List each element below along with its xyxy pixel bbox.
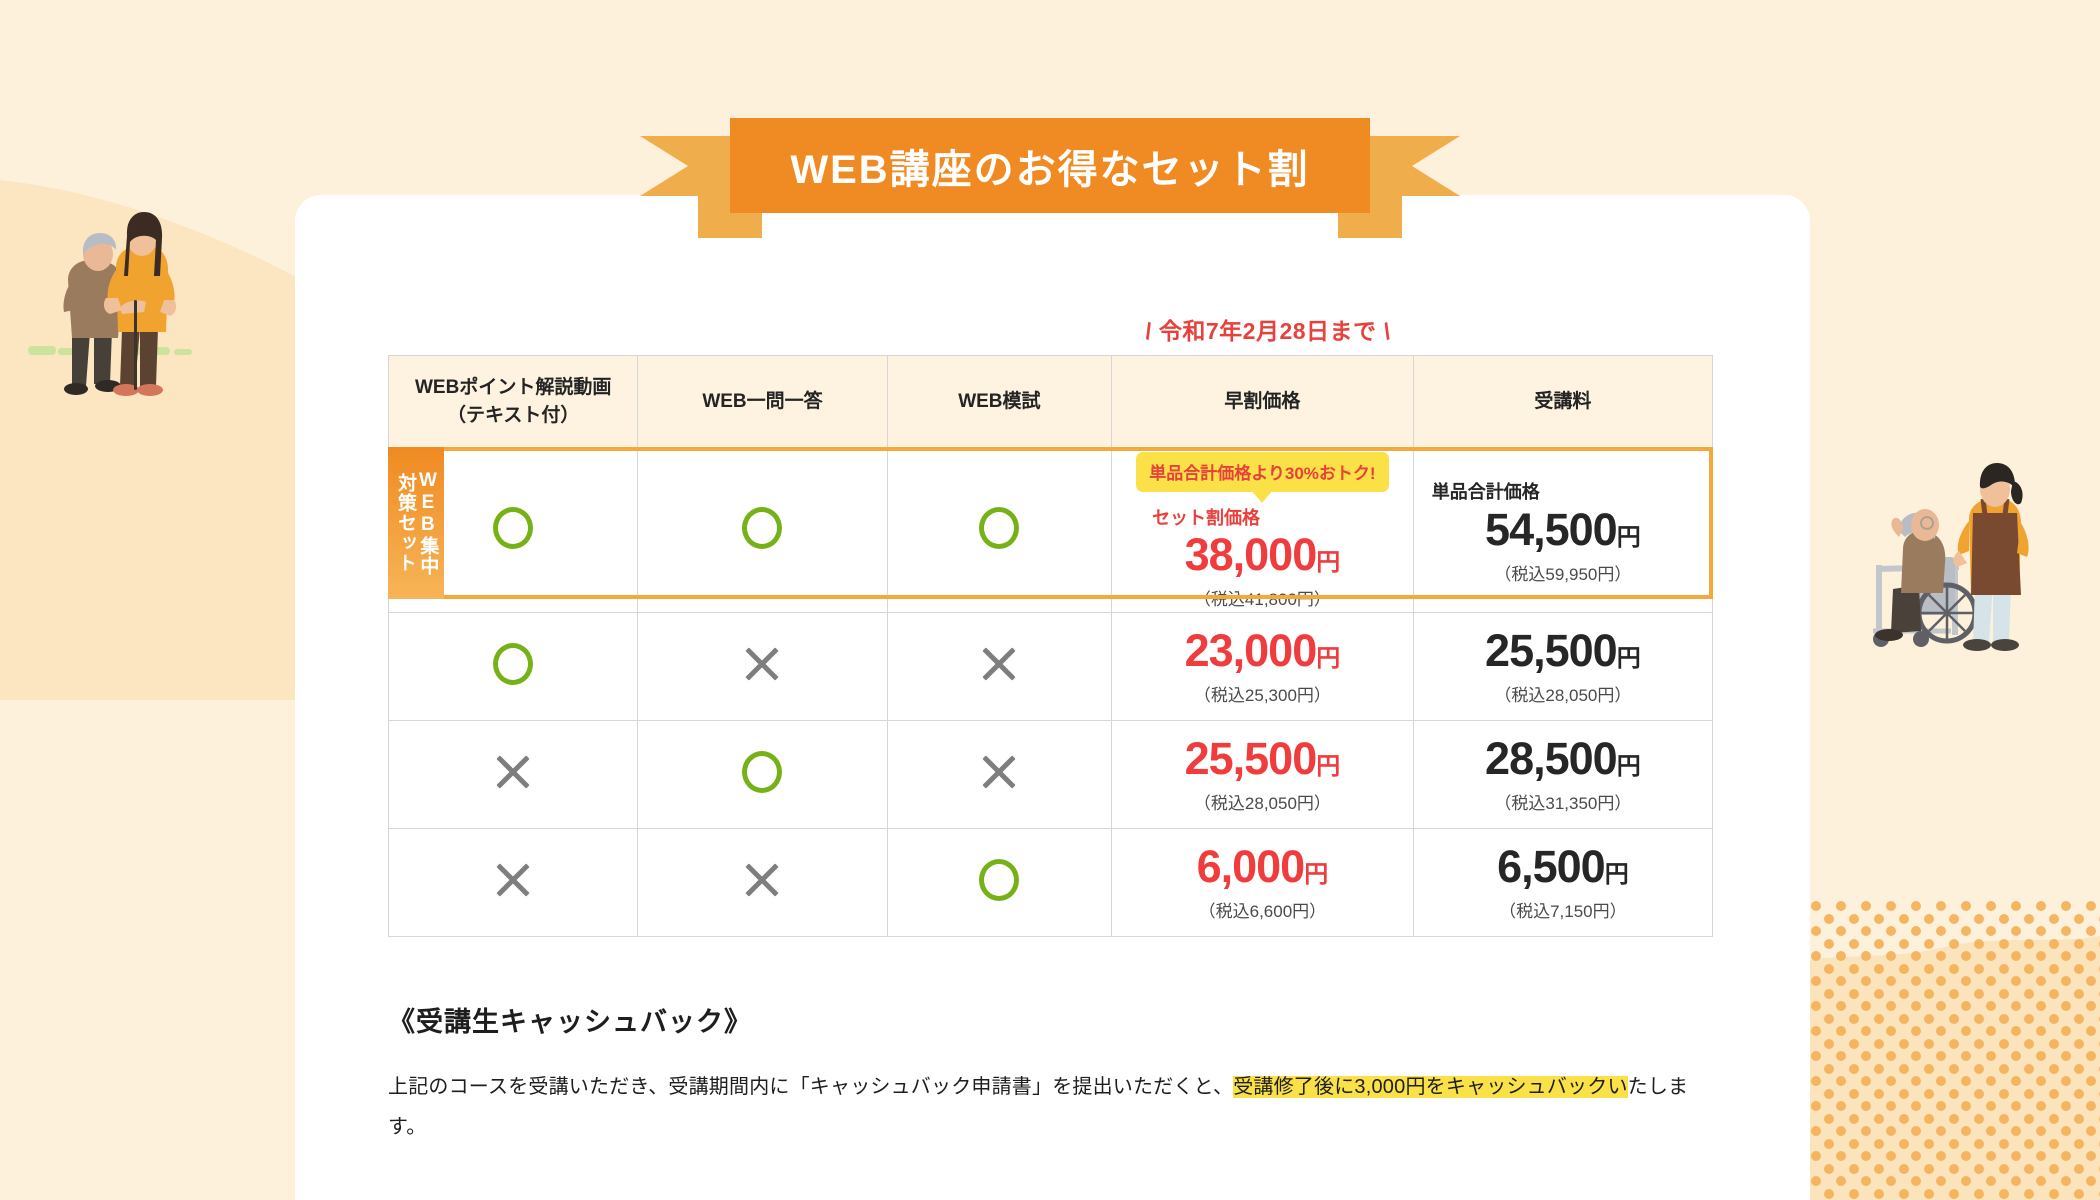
sale-yen: 円 (1304, 861, 1328, 888)
pricing-table: WEBポイント解説動画 （テキスト付） WEB一問一答 WEB模試 早割価格 受… (388, 355, 1713, 937)
cell-sale-price: 23,000円 （税込25,300円） (1112, 613, 1414, 721)
header-tuition-fee: 受講料 (1413, 356, 1712, 448)
sale-tax: （税込25,300円） (1112, 681, 1413, 706)
circle-icon (979, 859, 1019, 901)
cell-set-regular-price: 単品合計価格 54,500円 （税込59,950円） (1413, 448, 1712, 613)
set-label-col1: WEB集中 (416, 470, 438, 576)
cell-sale-price: 25,500円 （税込28,050円） (1112, 721, 1414, 829)
cell-mock (887, 613, 1111, 721)
table-row[interactable]: 25,500円 （税込28,050円） 28,500円 （税込31,350円） (389, 721, 1713, 829)
banner-ribbon: WEB講座のお得なセット割 (640, 118, 1460, 238)
set-discount-price: 38,000円 (1112, 531, 1413, 578)
cell-sale-price: 6,000円 （税込6,600円） (1112, 829, 1414, 937)
set-discount-label: セット割価格 (1152, 504, 1413, 530)
cell-list-price: 6,500円 （税込7,150円） (1413, 829, 1712, 937)
cashback-body: 上記のコースを受講いただき、受講期間内に「キャッシュバック申請書」を提出いただく… (388, 1067, 1718, 1147)
list-price: 25,500円 (1414, 627, 1712, 674)
table-header-row: WEBポイント解説動画 （テキスト付） WEB一問一答 WEB模試 早割価格 受… (389, 356, 1713, 448)
set-discount-amount: 38,000 (1185, 529, 1317, 580)
header-web-point-video: WEBポイント解説動画 （テキスト付） (389, 356, 638, 448)
cell-mock (887, 829, 1111, 937)
list-amount: 6,500 (1497, 841, 1605, 892)
cell-list-price: 28,500円 （税込31,350円） (1413, 721, 1712, 829)
table-row[interactable]: 23,000円 （税込25,300円） 25,500円 （税込28,050円） (389, 613, 1713, 721)
cross-icon (980, 753, 1018, 791)
cell-video (389, 721, 638, 829)
cross-icon (743, 645, 781, 683)
list-tax: （税込28,050円） (1414, 681, 1712, 706)
cashback-title: 《受講生キャッシュバック》 (388, 1000, 1718, 1039)
circle-icon (979, 507, 1019, 549)
set-regular-price: 54,500円 (1414, 506, 1712, 553)
cell-set-discount-price: 単品合計価格より30%おトク! セット割価格 38,000円 （税込41,800… (1112, 448, 1414, 613)
wheelchair-caregiver-illustration (1855, 445, 2085, 665)
header-line-1: WEBポイント解説動画 (395, 374, 631, 402)
circle-icon (493, 643, 533, 685)
cross-icon (743, 861, 781, 899)
cell-list-price: 25,500円 （税込28,050円） (1413, 613, 1712, 721)
header-early-discount-price: 早割価格 (1112, 356, 1414, 448)
sale-yen: 円 (1316, 645, 1340, 672)
list-yen: 円 (1605, 861, 1629, 888)
banner-ribbon-body: WEB講座のお得なセット割 (730, 118, 1370, 213)
set-label-col2: 対策セット (394, 473, 416, 573)
list-amount: 25,500 (1485, 625, 1617, 676)
set-regular-tax: （税込59,950円） (1414, 560, 1712, 585)
set-regular-amount: 54,500 (1485, 504, 1617, 555)
cell-mock (887, 721, 1111, 829)
list-tax: （税込31,350円） (1414, 789, 1712, 814)
limited-time-note: \令和7年2月28日まで/ (1145, 312, 1390, 346)
dot-pattern-decor (1760, 900, 2100, 1200)
cashback-body-before: 上記のコースを受講いただき、受講期間内に「キャッシュバック申請書」を提出いただく… (388, 1076, 1233, 1098)
header-line-2: （テキスト付） (395, 402, 631, 430)
cross-icon (494, 861, 532, 899)
list-price: 28,500円 (1414, 735, 1712, 782)
cell-qa (638, 721, 887, 829)
sale-amount: 6,000 (1197, 841, 1305, 892)
set-discount-yen: 円 (1316, 549, 1340, 576)
sale-price: 6,000円 (1112, 843, 1413, 890)
circle-icon (493, 507, 533, 549)
cell-qa (638, 829, 887, 937)
cell-video (389, 829, 638, 937)
cross-icon (980, 645, 1018, 683)
list-yen: 円 (1617, 645, 1641, 672)
set-row-vertical-label: 対策セット WEB集中 (388, 447, 444, 599)
set-regular-yen: 円 (1617, 524, 1641, 551)
list-price: 6,500円 (1414, 843, 1712, 890)
list-amount: 28,500 (1485, 733, 1617, 784)
sale-tax: （税込28,050円） (1112, 789, 1413, 814)
badge-tail-icon (1251, 490, 1273, 503)
circle-icon (742, 507, 782, 549)
cell-video (389, 613, 638, 721)
limited-time-text: 令和7年2月28日まで (1159, 318, 1377, 344)
caregiver-walking-illustration (10, 150, 240, 400)
list-yen: 円 (1617, 753, 1641, 780)
sale-amount: 23,000 (1185, 625, 1317, 676)
cashback-section: 《受講生キャッシュバック》 上記のコースを受講いただき、受講期間内に「キャッシュ… (388, 1000, 1718, 1147)
cell-qa (638, 613, 887, 721)
table-row[interactable]: 6,000円 （税込6,600円） 6,500円 （税込7,150円） (389, 829, 1713, 937)
sale-yen: 円 (1316, 753, 1340, 780)
discount-badge-label: 単品合計価格より30%おトク! (1136, 452, 1388, 492)
table-row-set[interactable]: 単品合計価格より30%おトク! セット割価格 38,000円 （税込41,800… (389, 448, 1713, 613)
sale-tax: （税込6,600円） (1112, 897, 1413, 922)
discount-badge: 単品合計価格より30%おトク! (1136, 452, 1388, 492)
pricing-table-zone: WEBポイント解説動画 （テキスト付） WEB一問一答 WEB模試 早割価格 受… (388, 355, 1713, 965)
header-web-qa: WEB一問一答 (638, 356, 887, 448)
cashback-body-highlight: 受講修了後に3,000円をキャッシュバック (1233, 1076, 1607, 1098)
page-root: WEB講座のお得なセット割 \令和7年2月28日まで/ WEBポイント解説動画 … (0, 0, 2100, 1200)
banner-title: WEB講座のお得なセット割 (790, 137, 1309, 195)
cross-icon (494, 753, 532, 791)
set-discount-tax: （税込41,800円） (1112, 585, 1413, 610)
cell-set-mock (887, 448, 1111, 613)
header-web-mock-exam: WEB模試 (887, 356, 1111, 448)
sale-price: 25,500円 (1112, 735, 1413, 782)
list-tax: （税込7,150円） (1414, 897, 1712, 922)
sale-price: 23,000円 (1112, 627, 1413, 674)
sale-amount: 25,500 (1185, 733, 1317, 784)
set-regular-label: 単品合計価格 (1432, 478, 1712, 504)
cell-set-qa (638, 448, 887, 613)
circle-icon (742, 751, 782, 793)
